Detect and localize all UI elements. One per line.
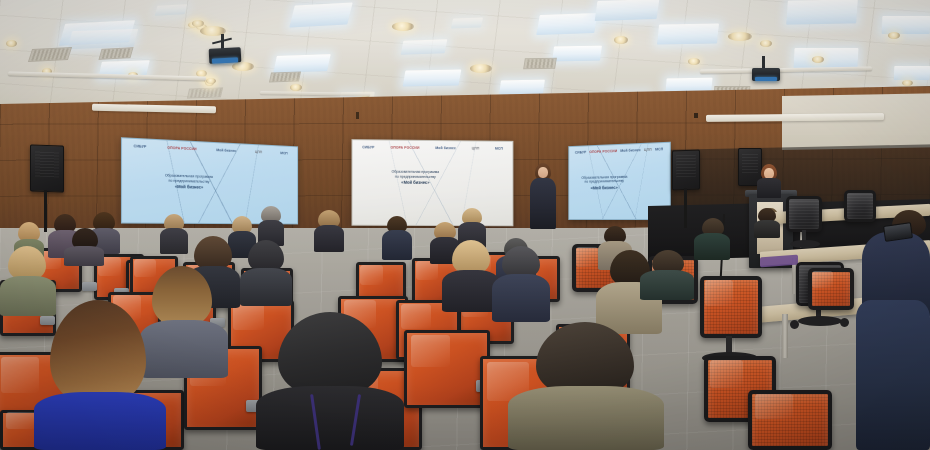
logo-msp: МСП xyxy=(655,148,663,152)
person-torso xyxy=(492,274,550,322)
logo-msp: МСП xyxy=(495,147,503,150)
ceiling-panel-light xyxy=(882,16,930,34)
person-torso xyxy=(694,233,730,260)
chair-back xyxy=(786,196,822,232)
chair-highlight xyxy=(755,394,794,419)
ceiling-panel-light xyxy=(451,17,483,28)
ceiling-spotlight xyxy=(290,84,302,91)
pa-speaker-pole-right xyxy=(684,188,687,228)
person-hair xyxy=(194,236,232,270)
ceiling-air-vent xyxy=(28,47,72,62)
seat-tablet-arm[interactable] xyxy=(82,282,97,291)
ceiling-panel-light xyxy=(657,23,719,44)
chair-base xyxy=(798,316,842,326)
audience-member-front-center xyxy=(256,312,404,450)
audience-member xyxy=(492,246,550,322)
orange-mesh-office-chair[interactable] xyxy=(808,268,854,310)
person-torso xyxy=(640,270,694,300)
ceiling-panel-light xyxy=(273,54,331,73)
audience-member xyxy=(382,216,412,260)
ceiling-spotlight xyxy=(192,20,204,27)
ceiling-spotlight xyxy=(902,80,913,86)
ceiling-spotlight xyxy=(206,78,216,84)
ceiling-air-vent xyxy=(523,58,557,70)
screen-title-line3: «Мой бизнес» xyxy=(375,180,455,186)
presenter-face xyxy=(538,167,548,178)
audience-member xyxy=(314,210,344,252)
audience-member xyxy=(754,208,780,238)
ceiling-spotlight xyxy=(392,22,414,31)
conference-hall-photo: СИБУР ОПОРА РОССИИ Мой бизнес ЦПП МСП Об… xyxy=(0,0,930,450)
ceiling-air-vent xyxy=(269,71,301,82)
ceiling-panel-light xyxy=(155,4,188,16)
person-torso xyxy=(160,228,188,254)
ceiling-panel-light xyxy=(403,70,462,87)
person-torso xyxy=(34,392,166,450)
wall-mounted-pa-speaker-right xyxy=(672,150,700,191)
person-hair xyxy=(278,312,382,396)
seat-highlight xyxy=(411,335,451,368)
person-hair xyxy=(8,246,46,280)
logo-sibur: СИБУР xyxy=(134,145,147,149)
ceiling-spotlight xyxy=(688,58,700,65)
wall-fixture xyxy=(356,112,359,119)
person-torso xyxy=(64,246,104,266)
audience-member xyxy=(694,218,730,260)
screen-title-block: Образовательная программа по предпринима… xyxy=(577,174,632,191)
pa-speaker-pole-left xyxy=(44,190,47,232)
ceiling-panel-light xyxy=(786,0,858,25)
audience-member xyxy=(160,214,188,254)
ceiling-spotlight xyxy=(614,36,628,44)
ceiling-spotlight xyxy=(728,32,752,41)
speaker-at-podium xyxy=(757,164,781,198)
logo-cpp: ЦПП xyxy=(472,147,480,150)
chair-castor xyxy=(790,320,799,329)
logo-sibur: СИБУР xyxy=(362,146,374,150)
chair-highlight xyxy=(705,280,734,306)
projector-lens xyxy=(755,77,777,81)
orange-mesh-office-chair[interactable] xyxy=(748,390,832,450)
ceiling-panel-light xyxy=(793,48,858,68)
ceiling-panel-light xyxy=(536,13,598,35)
person-torso xyxy=(754,220,780,238)
logo-opora: ОПОРА РОССИИ xyxy=(390,146,419,150)
seat-highlight xyxy=(360,265,383,285)
audience-member xyxy=(240,240,292,306)
person-torso xyxy=(256,386,404,450)
ceiling-spotlight xyxy=(812,56,824,63)
chair-castor xyxy=(840,318,849,327)
chair-highlight xyxy=(812,271,833,289)
person-torso xyxy=(240,268,292,306)
person-hair xyxy=(536,322,634,396)
orange-mesh-office-chair[interactable] xyxy=(700,276,762,338)
theatre-seat[interactable] xyxy=(404,330,490,408)
ceiling-spotlight xyxy=(6,40,17,47)
person-torso xyxy=(508,386,664,450)
light-wall-section-right xyxy=(782,93,930,150)
seat-highlight xyxy=(401,304,430,329)
wall-mounted-pa-speaker-left xyxy=(30,144,64,192)
audience-member xyxy=(856,300,930,450)
ceiling-air-vent xyxy=(98,47,133,60)
person-torso xyxy=(856,300,930,450)
mesh-office-chair[interactable] xyxy=(786,196,822,232)
screen-title-line3: «Мой бизнес» xyxy=(577,184,632,190)
speaker-body xyxy=(757,178,781,198)
audience-member xyxy=(640,250,694,300)
person-torso xyxy=(382,230,412,260)
screen-title-block: Образовательная программа по предпринима… xyxy=(137,172,238,191)
ceiling-panel-light xyxy=(289,2,352,27)
ceiling-spotlight xyxy=(232,62,254,71)
ceiling-air-vent xyxy=(187,87,223,98)
person-torso xyxy=(314,225,344,252)
presenter-body xyxy=(530,178,556,229)
center-projection-screen[interactable]: СИБУР ОПОРА РОССИИ Мой бизнес ЦПП МСП Об… xyxy=(352,139,514,226)
audience-member-front-left xyxy=(34,300,166,450)
wall-fixture xyxy=(694,113,698,118)
logo-msp: МСП xyxy=(280,152,287,156)
chair-highlight xyxy=(576,247,598,267)
ceiling-panel-light xyxy=(68,29,138,49)
ceiling-spotlight xyxy=(888,32,900,39)
ceiling-panel-light xyxy=(552,46,602,62)
ceiling-spotlight xyxy=(760,40,772,47)
chair-highlight xyxy=(710,360,743,388)
logo-moy-biznes: Мой бизнес xyxy=(435,147,456,151)
logo-cpp: ЦПП xyxy=(255,151,262,155)
person-hair xyxy=(452,240,490,274)
audience-member-front-right xyxy=(508,322,664,450)
presenter-at-center-screen xyxy=(530,163,556,229)
person-hair xyxy=(50,300,146,404)
ceiling-spotlight xyxy=(470,64,492,73)
ceiling-panel-light xyxy=(894,66,930,80)
table-leg xyxy=(782,314,788,358)
ceiling-panel-light xyxy=(595,0,660,21)
ceiling-panel-light xyxy=(499,80,545,95)
screen-title-block: Образовательная программа по предпринима… xyxy=(375,170,455,186)
chair-base xyxy=(790,240,820,248)
logo-sibur: СИБУР xyxy=(575,151,586,155)
audience-member xyxy=(64,228,104,266)
seat-highlight xyxy=(6,412,38,429)
ceiling-panel-light xyxy=(401,39,448,55)
logo-cpp: ЦПП xyxy=(644,149,652,153)
